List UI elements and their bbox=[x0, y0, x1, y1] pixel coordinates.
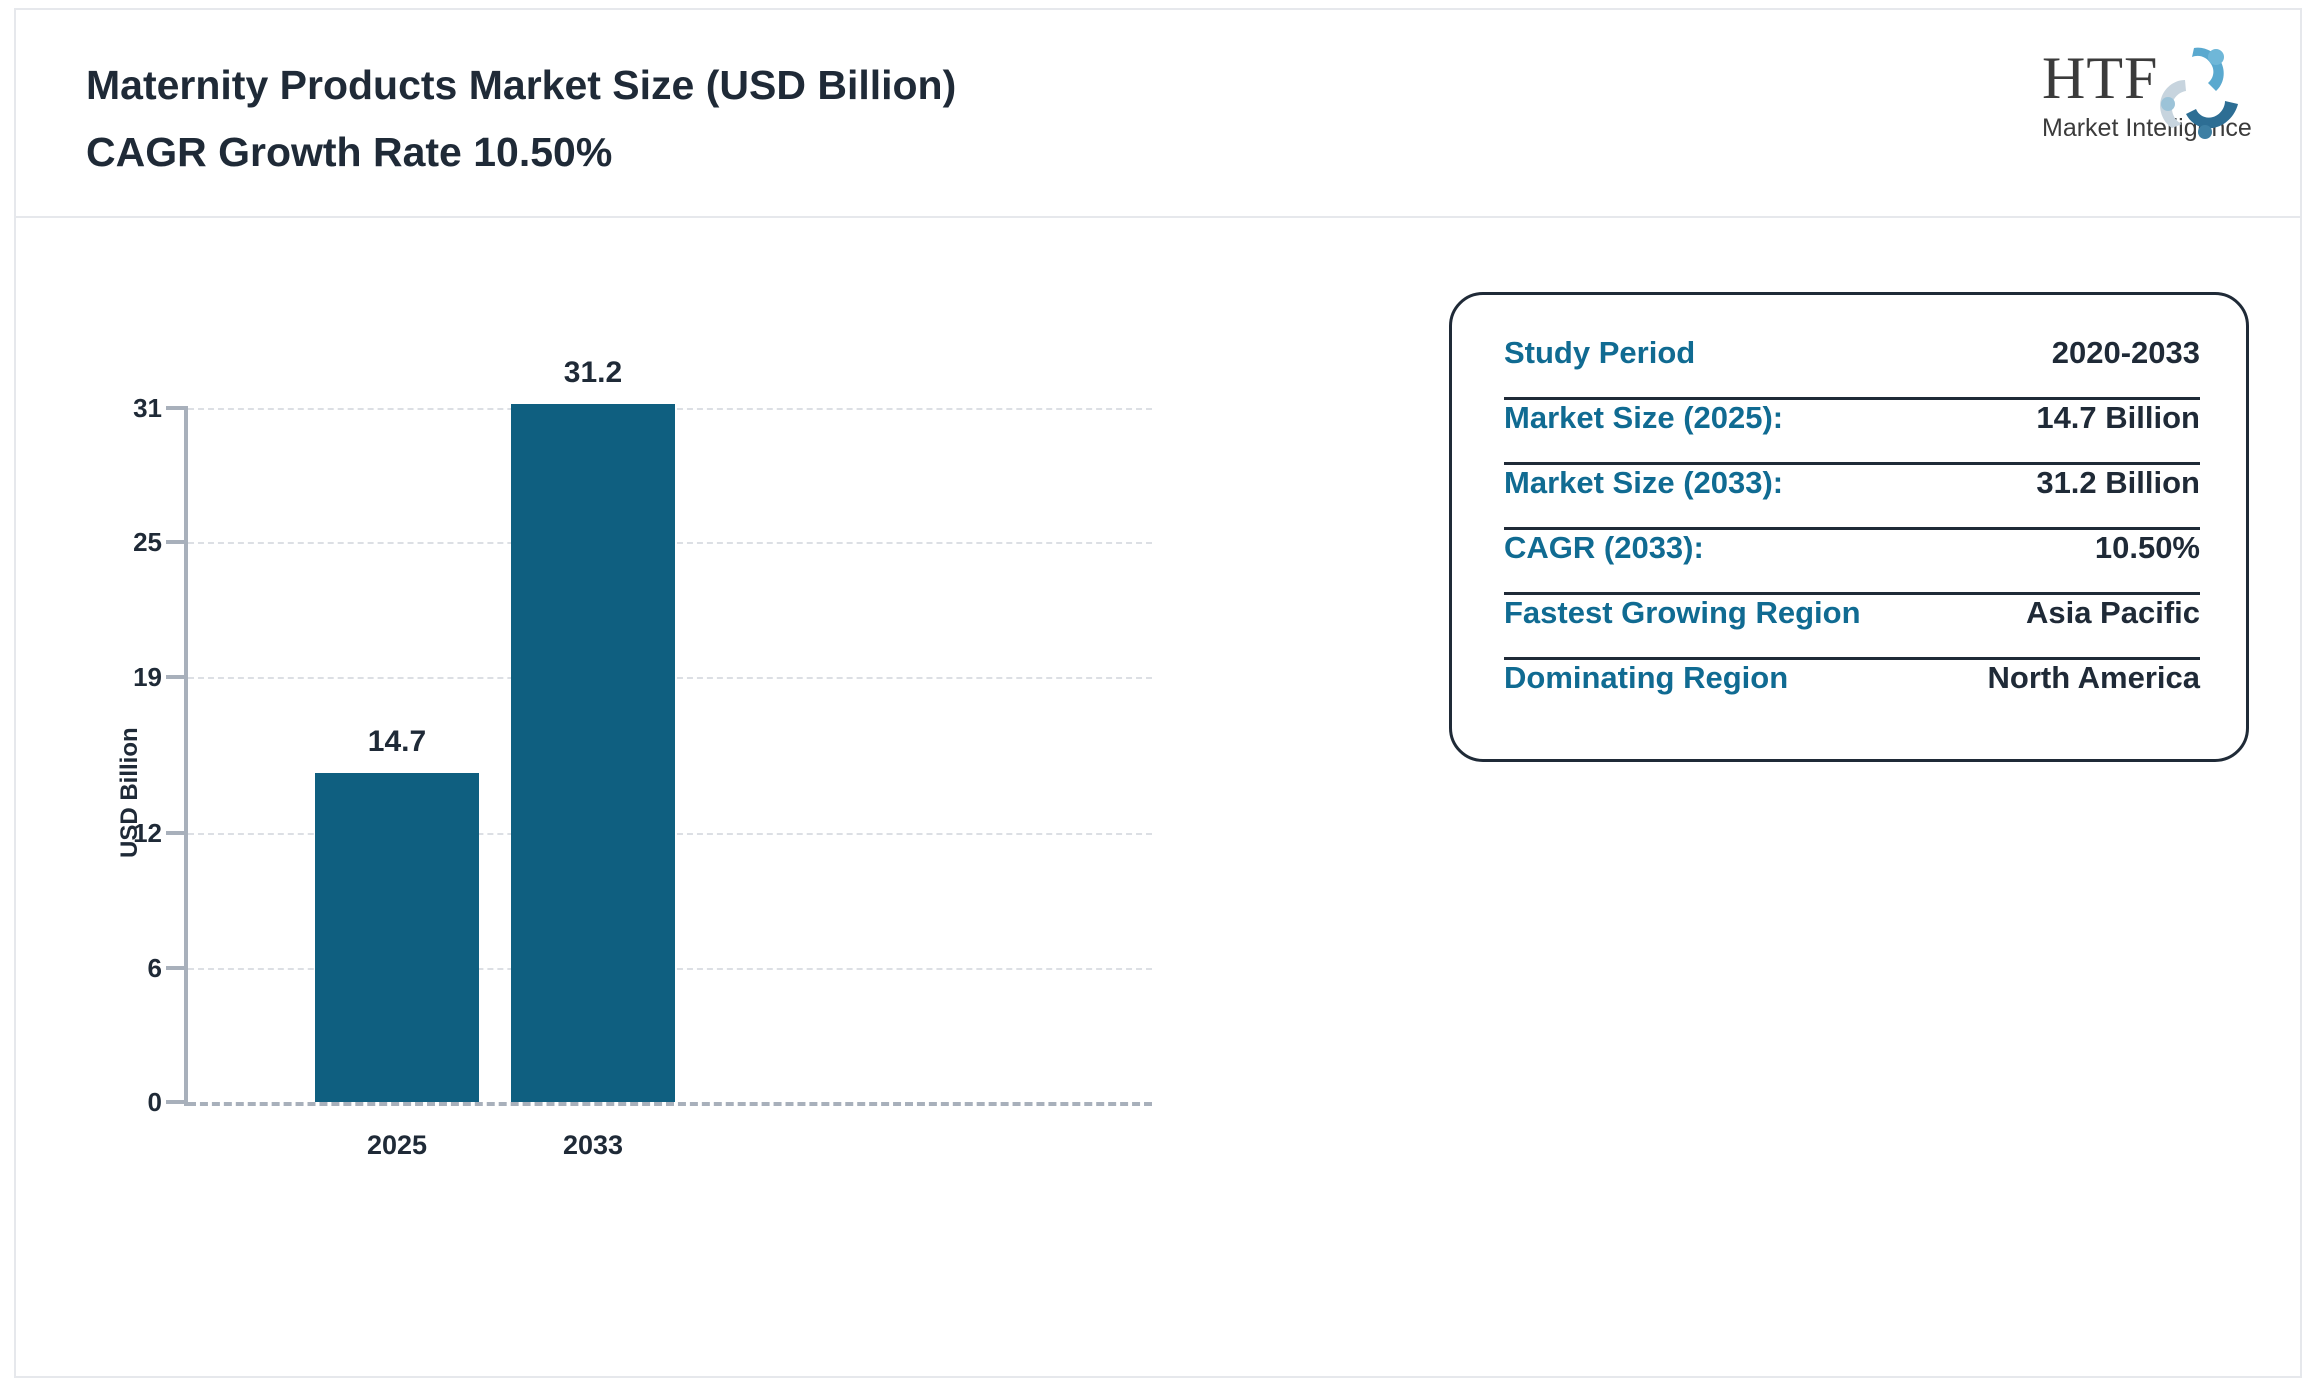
y-axis-tick bbox=[166, 406, 184, 410]
summary-row-value: 14.7 Billion bbox=[2036, 400, 2200, 436]
summary-row: CAGR (2033):10.50% bbox=[1504, 530, 2200, 595]
bar-value-label: 14.7 bbox=[297, 725, 497, 759]
logo-wordmark: HTF bbox=[2042, 48, 2158, 108]
y-axis-tick bbox=[166, 966, 184, 970]
bar-value-label: 31.2 bbox=[493, 356, 693, 390]
bar[interactable] bbox=[511, 404, 675, 1102]
summary-row-value: 31.2 Billion bbox=[2036, 465, 2200, 501]
plot-area: 061219253114.7202531.22033 bbox=[188, 408, 1152, 1102]
page-header: Maternity Products Market Size (USD Bill… bbox=[16, 10, 2300, 218]
title-line-2: CAGR Growth Rate 10.50% bbox=[86, 119, 956, 186]
htf-logo: HTF Market Intelligence bbox=[2038, 42, 2248, 152]
y-axis-tick bbox=[166, 831, 184, 835]
summary-row-value: 2020-2033 bbox=[2052, 335, 2200, 371]
summary-row-label: Market Size (2025): bbox=[1504, 400, 1783, 436]
summary-row: Study Period2020-2033 bbox=[1504, 335, 2200, 400]
summary-row-value: Asia Pacific bbox=[2026, 595, 2200, 631]
y-axis-tick bbox=[166, 1100, 184, 1104]
summary-row: Dominating RegionNorth America bbox=[1504, 660, 2200, 722]
x-axis-tick-label: 2025 bbox=[297, 1130, 497, 1161]
page-title: Maternity Products Market Size (USD Bill… bbox=[86, 52, 956, 186]
summary-row: Fastest Growing RegionAsia Pacific bbox=[1504, 595, 2200, 660]
y-axis-tick bbox=[166, 675, 184, 679]
summary-row-label: Fastest Growing Region bbox=[1504, 595, 1861, 631]
x-axis-baseline bbox=[188, 1102, 1152, 1106]
summary-row-label: Dominating Region bbox=[1504, 660, 1788, 696]
market-summary-panel: Study Period2020-2033Market Size (2025):… bbox=[1449, 292, 2249, 762]
bar[interactable] bbox=[315, 773, 479, 1102]
title-line-1: Maternity Products Market Size (USD Bill… bbox=[86, 52, 956, 119]
bar-chart: USD Billion 061219253114.7202531.22033 bbox=[16, 218, 1316, 1380]
summary-row-label: Study Period bbox=[1504, 335, 1695, 371]
summary-row-label: CAGR (2033): bbox=[1504, 530, 1704, 566]
x-axis-tick-label: 2033 bbox=[493, 1130, 693, 1161]
summary-row-label: Market Size (2033): bbox=[1504, 465, 1783, 501]
summary-row-value: North America bbox=[1988, 660, 2200, 696]
y-axis-tick bbox=[166, 540, 184, 544]
summary-row: Market Size (2025):14.7 Billion bbox=[1504, 400, 2200, 465]
summary-rows: Study Period2020-2033Market Size (2025):… bbox=[1504, 335, 2200, 722]
summary-row: Market Size (2033):31.2 Billion bbox=[1504, 465, 2200, 530]
summary-row-value: 10.50% bbox=[2095, 530, 2200, 566]
chart-page: Maternity Products Market Size (USD Bill… bbox=[14, 8, 2302, 1378]
logo-triskelion-icon bbox=[2142, 42, 2248, 142]
